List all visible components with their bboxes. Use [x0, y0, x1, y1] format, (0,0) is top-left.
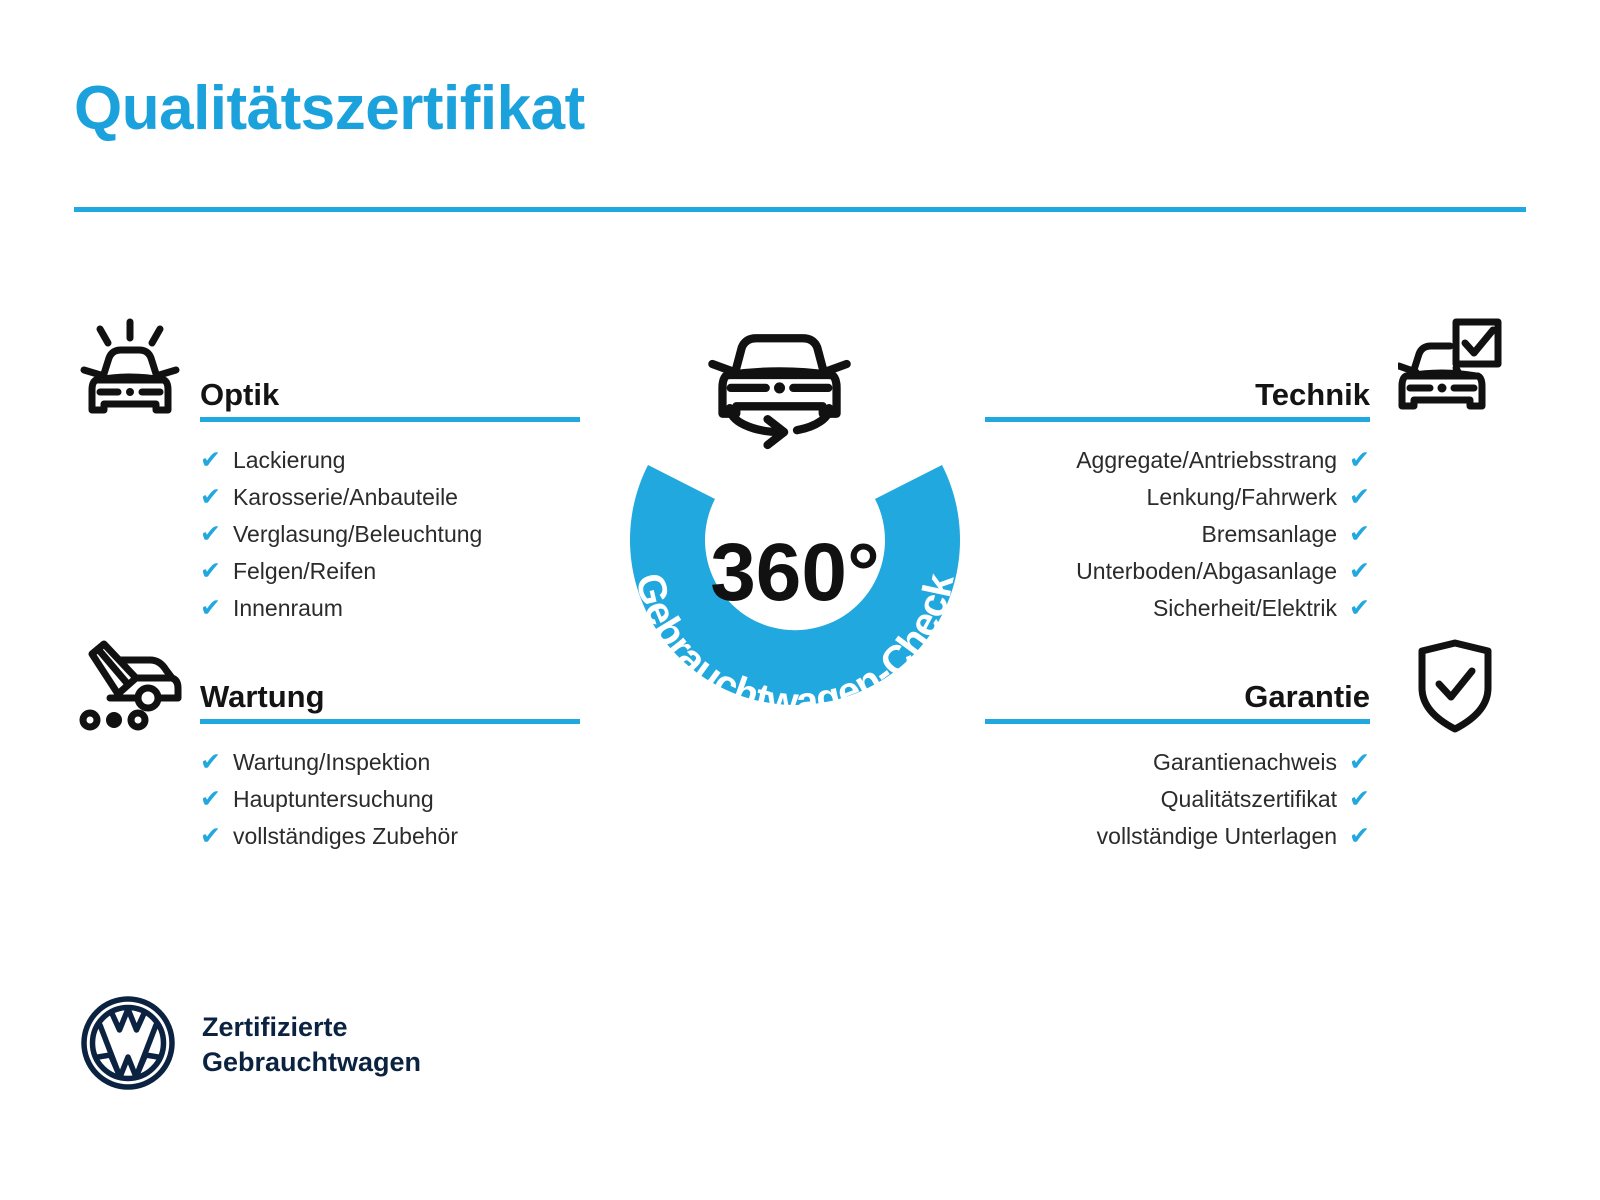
footer-line-1: Zertifizierte: [202, 1010, 421, 1045]
list-item: Unterboden/Abgasanlage ✔: [985, 553, 1370, 590]
car-front-shine-icon: [74, 318, 186, 423]
check-icon: ✔: [1349, 485, 1370, 510]
section-garantie-title: Garantie: [1244, 681, 1370, 712]
list-item: Garantienachweis ✔: [985, 744, 1370, 781]
list-item-label: Lenkung/Fahrwerk: [1147, 479, 1338, 516]
list-item: ✔ Hauptuntersuchung: [200, 781, 580, 818]
section-technik: Technik Aggregate/Antriebsstrang ✔ Lenku…: [985, 358, 1370, 627]
section-wartung-divider: [200, 719, 580, 724]
check-icon: ✔: [200, 596, 221, 621]
list-item-label: Garantienachweis: [1153, 744, 1337, 781]
list-item-label: Lackierung: [233, 442, 346, 479]
list-item-label: Unterboden/Abgasanlage: [1076, 553, 1337, 590]
section-optik: Optik ✔ Lackierung ✔ Karosserie/Anbautei…: [200, 358, 580, 627]
list-item: Qualitätszertifikat ✔: [985, 781, 1370, 818]
list-item: ✔ Lackierung: [200, 442, 580, 479]
check-icon: ✔: [200, 485, 221, 510]
section-garantie-list: Garantienachweis ✔ Qualitätszertifikat ✔…: [985, 744, 1370, 855]
list-item-label: Karosserie/Anbauteile: [233, 479, 458, 516]
list-item-label: Hauptuntersuchung: [233, 781, 434, 818]
list-item-label: Qualitätszertifikat: [1161, 781, 1337, 818]
list-item-label: vollständiges Zubehör: [233, 818, 458, 855]
list-item: Bremsanlage ✔: [985, 516, 1370, 553]
list-item: ✔ Felgen/Reifen: [200, 553, 580, 590]
list-item-label: Wartung/Inspektion: [233, 744, 430, 781]
car-front-rotate-icon: [712, 338, 846, 445]
section-optik-list: ✔ Lackierung ✔ Karosserie/Anbauteile ✔ V…: [200, 442, 580, 627]
list-item: ✔ Verglasung/Beleuchtung: [200, 516, 580, 553]
section-wartung-title: Wartung: [200, 681, 325, 712]
check-icon: ✔: [1349, 559, 1370, 584]
list-item-label: Aggregate/Antriebsstrang: [1076, 442, 1337, 479]
section-technik-header: Technik: [985, 358, 1370, 416]
list-item: Aggregate/Antriebsstrang ✔: [985, 442, 1370, 479]
check-icon: ✔: [200, 824, 221, 849]
list-item: vollständige Unterlagen ✔: [985, 818, 1370, 855]
footer-brand-text: Zertifizierte Gebrauchtwagen: [202, 1010, 421, 1080]
car-front-checkbox-icon: [1398, 318, 1502, 423]
check-icon: ✔: [200, 787, 221, 812]
footer-line-2: Gebrauchtwagen: [202, 1045, 421, 1080]
list-item-label: vollständige Unterlagen: [1097, 818, 1337, 855]
section-garantie-divider: [985, 719, 1370, 724]
check-icon: ✔: [200, 750, 221, 775]
check-icon: ✔: [1349, 448, 1370, 473]
check-icon: ✔: [1349, 787, 1370, 812]
section-technik-list: Aggregate/Antriebsstrang ✔ Lenkung/Fahrw…: [985, 442, 1370, 627]
section-garantie: Garantie Garantienachweis ✔ Qualitätszer…: [985, 660, 1370, 855]
section-garantie-header: Garantie: [985, 660, 1370, 718]
list-item-label: Innenraum: [233, 590, 343, 627]
section-optik-divider: [200, 417, 580, 422]
list-item-label: Sicherheit/Elektrik: [1153, 590, 1337, 627]
badge-center-label: 360°: [710, 527, 880, 618]
check-icon: ✔: [200, 559, 221, 584]
list-item: ✔ vollständiges Zubehör: [200, 818, 580, 855]
shield-check-icon: [1412, 638, 1498, 739]
section-wartung-list: ✔ Wartung/Inspektion ✔ Hauptuntersuchung…: [200, 744, 580, 855]
section-optik-header: Optik: [200, 358, 580, 416]
list-item: Lenkung/Fahrwerk ✔: [985, 479, 1370, 516]
section-technik-title: Technik: [1255, 379, 1370, 410]
certificate-page: Qualitätszertifikat: [0, 0, 1600, 1200]
check-icon: ✔: [1349, 596, 1370, 621]
volkswagen-logo: [80, 995, 176, 1096]
360-check-badge: Gebrauchtwagen-Check 360°: [565, 300, 1025, 770]
page-title: Qualitätszertifikat: [74, 78, 585, 140]
list-item-label: Verglasung/Beleuchtung: [233, 516, 482, 553]
section-wartung-header: Wartung: [200, 660, 580, 718]
pencil-car-service-icon: [74, 632, 184, 737]
list-item: Sicherheit/Elektrik ✔: [985, 590, 1370, 627]
section-optik-title: Optik: [200, 379, 279, 410]
list-item-label: Felgen/Reifen: [233, 553, 376, 590]
list-item: ✔ Wartung/Inspektion: [200, 744, 580, 781]
check-icon: ✔: [1349, 824, 1370, 849]
list-item-label: Bremsanlage: [1202, 516, 1338, 553]
check-icon: ✔: [200, 522, 221, 547]
list-item: ✔ Karosserie/Anbauteile: [200, 479, 580, 516]
section-wartung: Wartung ✔ Wartung/Inspektion ✔ Hauptunte…: [200, 660, 580, 855]
title-divider: [74, 207, 1526, 212]
list-item: ✔ Innenraum: [200, 590, 580, 627]
check-icon: ✔: [200, 448, 221, 473]
check-icon: ✔: [1349, 750, 1370, 775]
section-technik-divider: [985, 417, 1370, 422]
check-icon: ✔: [1349, 522, 1370, 547]
